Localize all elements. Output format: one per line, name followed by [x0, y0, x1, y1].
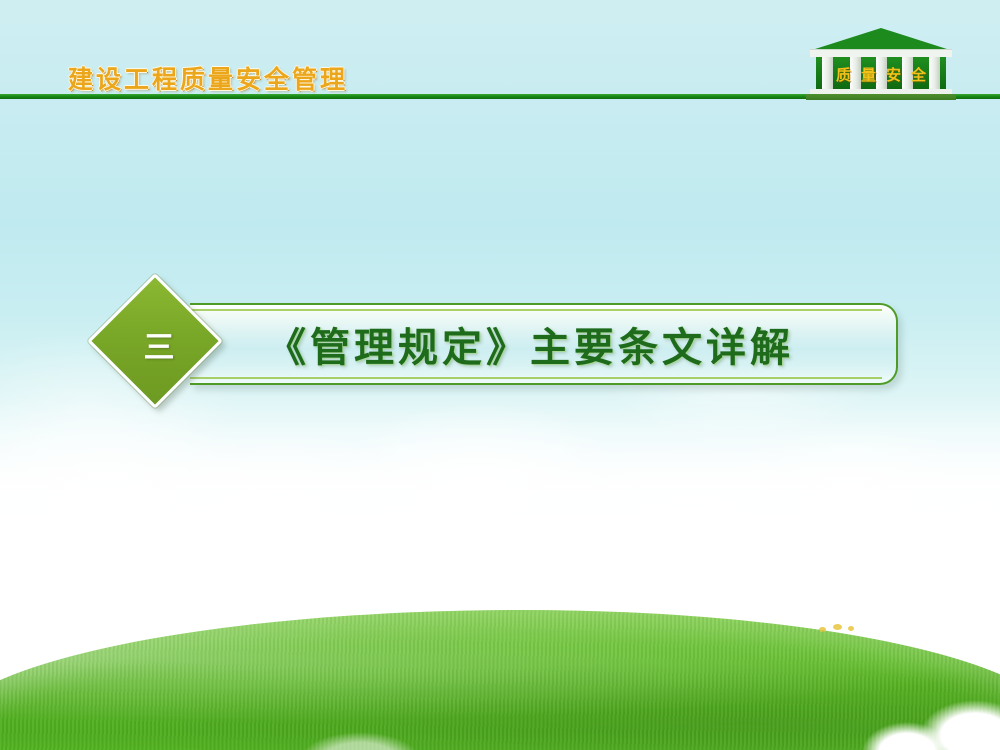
- temple-pediment-icon: [812, 28, 950, 50]
- temple-base-icon: [806, 94, 956, 100]
- grass-flower-speck: [848, 626, 854, 631]
- temple-architrave-icon: [810, 49, 952, 57]
- grass-flower-speck: [819, 627, 826, 632]
- section-number-badge: 三: [103, 288, 215, 400]
- cloud-blob: [700, 420, 1000, 610]
- cloud-blob: [330, 400, 630, 580]
- cloud-blob: [850, 455, 1000, 630]
- page-title: 建设工程质量安全管理: [68, 60, 348, 96]
- quality-safety-temple-logo: 质量安全: [806, 28, 956, 100]
- grass-hill: [0, 610, 1000, 750]
- cloud-blob: [0, 405, 290, 615]
- logo-label: 质量安全: [816, 64, 946, 85]
- cloud-band: [0, 400, 1000, 610]
- grass-flower-speck: [833, 624, 842, 630]
- diamond-icon: [87, 273, 223, 409]
- section-title-text: 《管理规定》主要条文详解: [190, 303, 870, 385]
- section-title-bar: 《管理规定》主要条文详解: [190, 303, 898, 385]
- slide-canvas: 建设工程质量安全管理 质量安全 《管理规定》主要条文详解 三: [0, 0, 1000, 750]
- cloud-blob: [120, 430, 440, 620]
